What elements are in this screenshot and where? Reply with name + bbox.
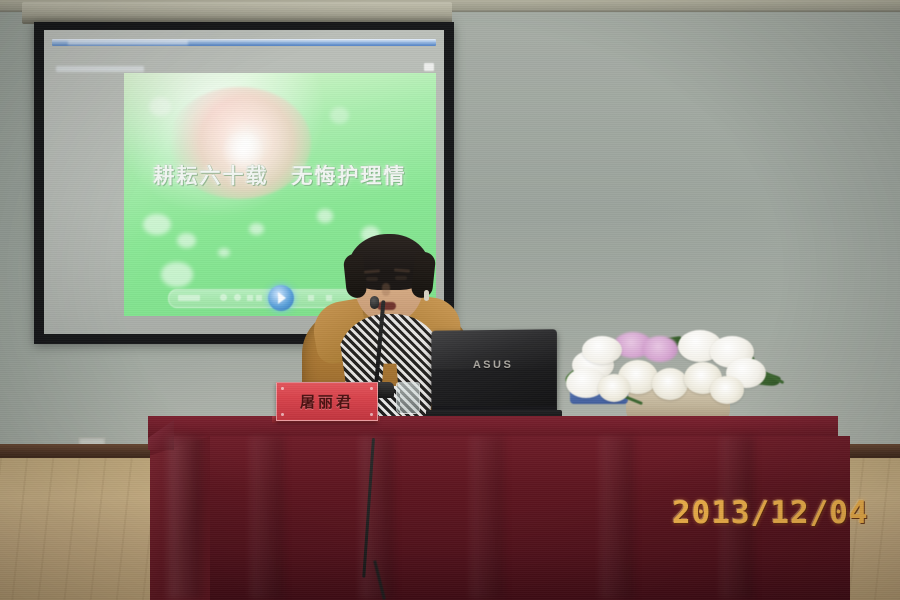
microphone-head (370, 296, 379, 309)
speaker-name: 屠丽君 (300, 391, 354, 412)
window-corner-icon (424, 63, 434, 71)
slide-title: 耕耘六十载 无悔护理情 (124, 160, 436, 190)
slide-bokeh (317, 209, 333, 224)
previous-track-button[interactable] (256, 295, 262, 301)
asus-logo: ASUS (473, 359, 513, 371)
slide-bokeh (218, 248, 230, 258)
name-placard: 屠丽君 (276, 382, 378, 421)
slide-bokeh (177, 233, 196, 248)
window-title-text (68, 40, 188, 45)
rose (710, 376, 744, 404)
earring (424, 290, 429, 301)
tablecloth-fold (600, 436, 634, 600)
placard-screw (281, 413, 284, 416)
laptop: ASUS (431, 329, 557, 415)
player-status-text (178, 295, 200, 301)
player-mute-icon[interactable] (234, 294, 241, 301)
tablecloth-fold (250, 436, 284, 600)
tablecloth-fold (470, 436, 504, 600)
slide-bokeh (330, 107, 349, 124)
nose (382, 283, 390, 296)
water-glass (396, 382, 420, 414)
slide-bokeh (143, 214, 171, 236)
placard-screw (370, 387, 373, 390)
stop-button[interactable] (247, 295, 253, 301)
slide-bokeh (149, 97, 171, 116)
screen-valance (22, 2, 452, 24)
rose (598, 374, 630, 402)
camera-date-stamp: 2013/12/04 (672, 495, 869, 531)
slide-bokeh (161, 262, 192, 286)
lily (582, 336, 622, 364)
eye-right (395, 276, 407, 280)
rose (652, 368, 688, 400)
eye-left (366, 277, 378, 281)
placard-screw (281, 387, 284, 390)
hydrangea (642, 336, 678, 362)
event-photograph: 耕耘六十载 无悔护理情 (0, 0, 900, 600)
play-button[interactable] (268, 285, 294, 311)
player-volume-icon[interactable] (220, 294, 227, 301)
placard-screw (370, 413, 373, 416)
slide-bokeh (249, 223, 265, 235)
tablecloth-fold (168, 436, 202, 600)
flower-arrangement (560, 318, 786, 428)
